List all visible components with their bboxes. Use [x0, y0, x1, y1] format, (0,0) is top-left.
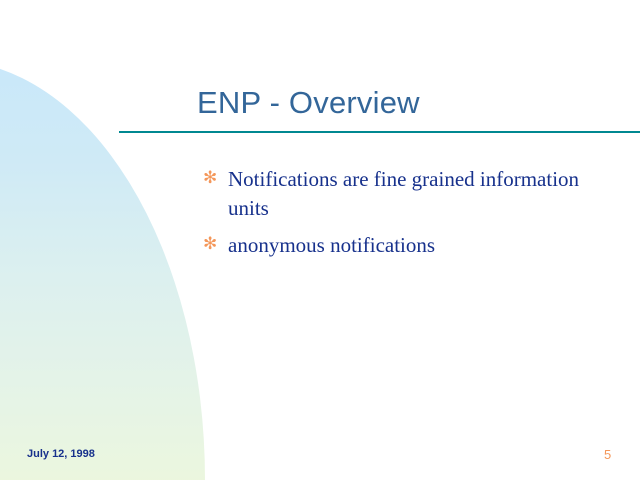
- bullet-list: ✻ Notifications are fine grained informa…: [203, 165, 623, 268]
- page-number: 5: [604, 447, 611, 462]
- list-item: ✻ Notifications are fine grained informa…: [203, 165, 623, 223]
- slide-title: ENP - Overview: [197, 85, 420, 121]
- title-underline-rule: [119, 131, 640, 133]
- list-item-text: anonymous notifications: [228, 231, 623, 260]
- footer-date: July 12, 1998: [27, 448, 95, 460]
- list-item: ✻ anonymous notifications: [203, 231, 623, 260]
- asterisk-bullet-icon: ✻: [203, 166, 217, 190]
- asterisk-bullet-icon: ✻: [203, 232, 217, 256]
- slide-canvas: ENP - Overview ✻ Notifications are fine …: [0, 0, 640, 480]
- list-item-text: Notifications are fine grained informati…: [228, 165, 623, 223]
- decorative-gradient-ellipse: [0, 60, 205, 480]
